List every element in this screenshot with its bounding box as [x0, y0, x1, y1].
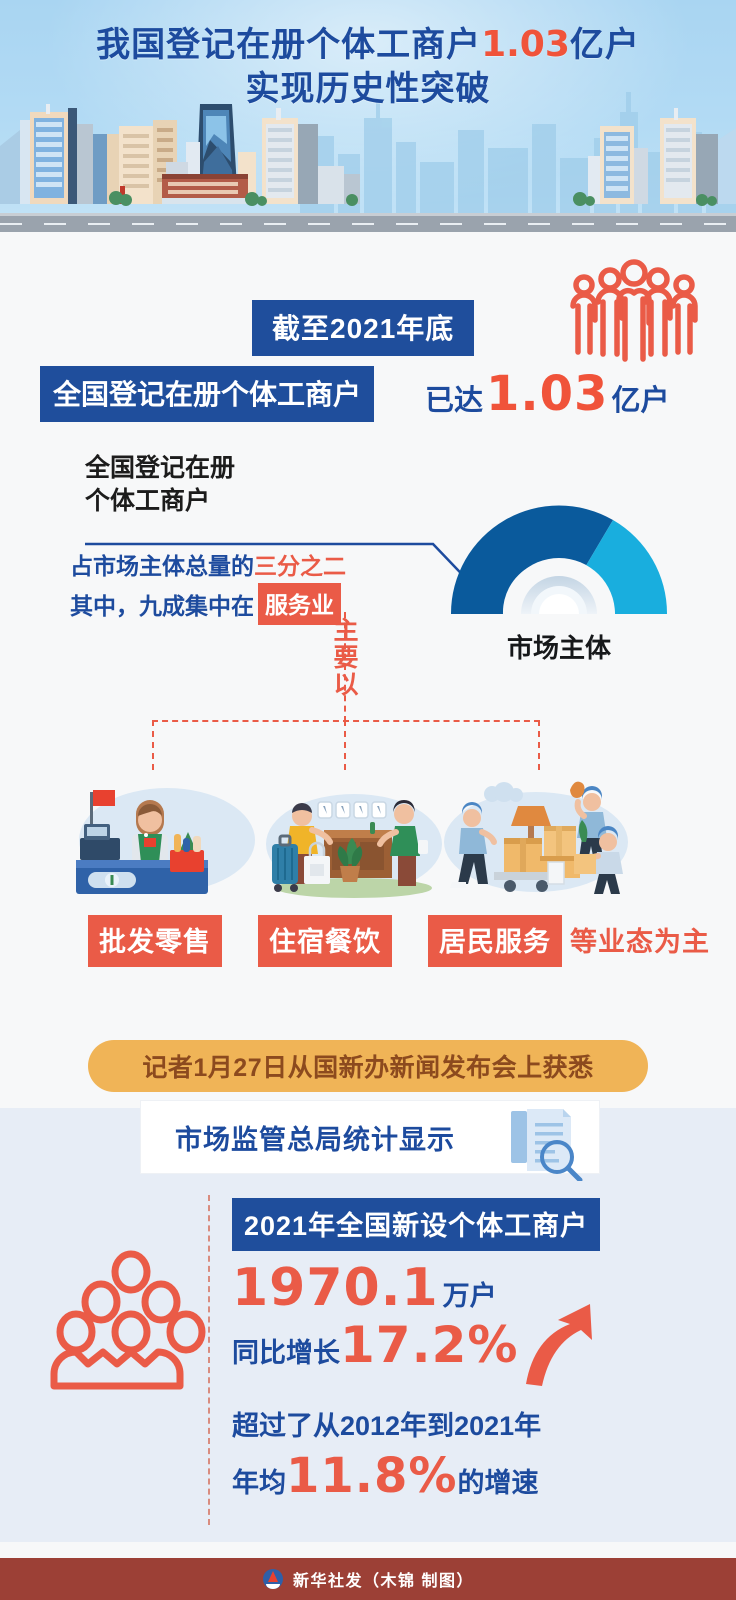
up-arrow-icon: [520, 1300, 602, 1388]
dashed-line-horizontal: [152, 720, 540, 722]
donut-subtext-fraction: 三分之二: [254, 553, 346, 579]
source-card: 市场监管总局统计显示: [140, 1100, 600, 1174]
new-registrations-value: 1970.1 万户: [232, 1262, 497, 1314]
donut-caption-line2: 个体工商户: [85, 485, 235, 518]
category-tail-text: 等业态为主: [570, 915, 710, 959]
donut-caption: 全国登记在册 个体工商户: [85, 452, 235, 518]
donut-caption-line1: 全国登记在册: [85, 452, 235, 485]
donut-subtext-line2: 其中，九成集中在 服务业: [70, 583, 341, 625]
dashed-line-side: [208, 1195, 210, 1525]
category-label-resident-service: 居民服务: [428, 915, 562, 967]
dashed-line-drop-3: [538, 720, 540, 770]
date-tag: 截至2021年底: [252, 300, 474, 356]
category-label-hotel-catering: 住宿餐饮: [258, 915, 392, 967]
page-title: 我国登记在册个体工商户1.03亿户 实现历史性突破: [0, 22, 736, 112]
market-entity-donut-chart: [443, 500, 675, 618]
header-banner: 我国登记在册个体工商户1.03亿户 实现历史性突破: [0, 0, 736, 232]
road: [0, 216, 736, 232]
source-card-text: 市场监管总局统计显示: [175, 1118, 455, 1157]
crowd-people-icon: [48, 1246, 214, 1392]
infographic-page: 我国登记在册个体工商户1.03亿户 实现历史性突破 截至2021年底 全国登记在…: [0, 0, 736, 1600]
moving-service-illustration: [432, 768, 637, 903]
hotel-reception-illustration: [252, 768, 457, 903]
service-industry-chip: 服务业: [258, 583, 341, 625]
xinhua-logo-icon: [262, 1568, 284, 1590]
people-group-icon: [567, 258, 701, 364]
footer-gap: [0, 1542, 736, 1558]
donut-subtext-line1: 占市场主体总量的三分之二: [70, 547, 346, 581]
press-conference-pill: 记者1月27日从国新办新闻发布会上获悉: [88, 1040, 648, 1092]
growth-rate-prefix: 同比增长: [232, 1331, 340, 1370]
category-label-wholesale-retail: 批发零售: [88, 915, 222, 967]
comparison-line: 超过了从2012年到2021年: [232, 1404, 541, 1443]
growth-rate-value: 17.2%: [340, 1320, 518, 1370]
vertical-char-1: 主: [332, 618, 360, 645]
new-registrations-tag: 2021年全国新设个体工商户: [232, 1198, 600, 1251]
title-text-pre: 我国登记在册个体工商户: [96, 26, 481, 64]
retail-cashier-illustration: [62, 768, 267, 903]
title-text-post: 亿户: [570, 26, 640, 64]
vertical-char-2: 要: [332, 645, 360, 672]
growth-rate-row: 同比增长 17.2%: [232, 1320, 518, 1370]
footer-bar: 新华社发（木锦 制图）: [0, 1558, 736, 1600]
category-labels: 批发零售 住宿餐饮 居民服务 等业态为主: [0, 915, 736, 959]
title-highlight-number: 1.03: [481, 24, 570, 65]
title-line-1: 我国登记在册个体工商户1.03亿户: [0, 22, 736, 68]
title-line-2: 实现历史性突破: [0, 68, 736, 112]
reach-word: 已达: [425, 377, 483, 419]
document-search-icon: [501, 1105, 587, 1181]
average-growth-prefix: 年均: [232, 1461, 286, 1500]
average-growth-suffix: 的增速: [458, 1461, 539, 1500]
reach-unit: 亿户: [611, 377, 669, 419]
donut-subtext-prefix: 占市场主体总量的: [70, 553, 254, 579]
dashed-line-drop-2: [344, 720, 346, 770]
category-illustrations: [0, 768, 736, 908]
donut-center-label: 市场主体: [443, 628, 675, 665]
nation-registered-tag: 全国登记在册个体工商户: [40, 366, 374, 422]
average-growth-value: 11.8%: [286, 1452, 458, 1500]
dashed-line-drop-1: [152, 720, 154, 770]
vertical-connector-text: 主 要 以: [332, 618, 360, 698]
new-registrations-unit: 万户: [443, 1274, 497, 1313]
reach-statement: 已达 1.03 亿户: [425, 370, 669, 419]
vertical-char-3: 以: [332, 672, 360, 699]
footer-credit: 新华社发（木锦 制图）: [293, 1567, 474, 1591]
reach-number: 1.03: [486, 370, 608, 418]
dashed-line-vertical-main: [344, 612, 346, 722]
average-growth-row: 年均 11.8% 的增速: [232, 1452, 539, 1500]
new-registrations-number: 1970.1: [232, 1262, 439, 1314]
skyline-buildings: [0, 100, 736, 218]
donut-service-prefix: 其中，九成集中在: [70, 587, 254, 621]
